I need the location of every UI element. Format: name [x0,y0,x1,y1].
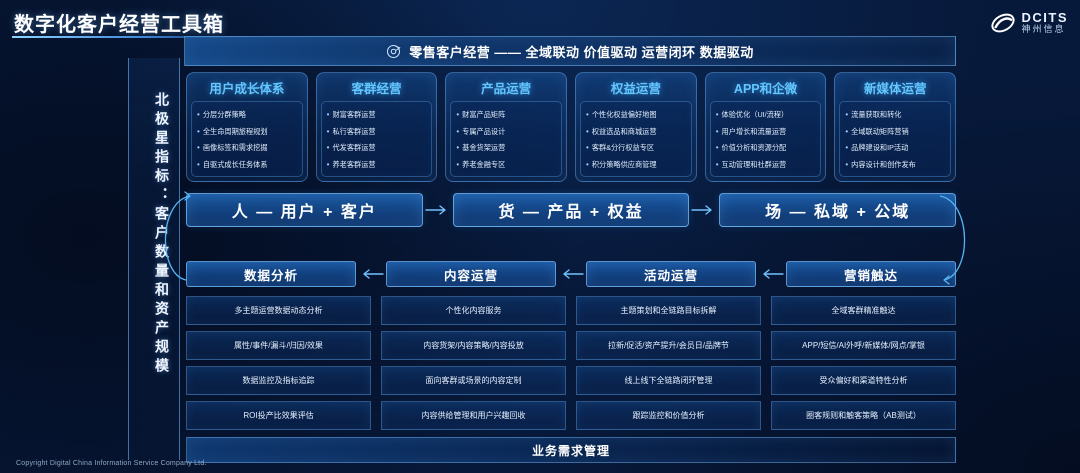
card-bullet: 全生命周期旅程规划 [197,127,299,136]
card-benefit-ops[interactable]: 权益运营 个性化权益偏好地图 权益选品和商城运营 客群&分行权益专区 积分策略供… [575,72,697,182]
bottom-bar-demand-management: 业务需求管理 [186,437,956,463]
grid-cell[interactable]: 内容货架/内容策略/内容投放 [381,331,566,360]
card-user-growth[interactable]: 用户成长体系 分层分群策略 全生命周期旅程规划 画像标签和需求挖掘 自驱式成长任… [186,72,308,182]
grid-cell[interactable]: 内容供给管理和用户兴趣回收 [381,401,566,430]
card-bullet: 体验优化（UI/流程） [716,110,818,119]
grid-cell[interactable]: 主题策划和全链路目标拆解 [576,296,761,325]
logo-text-cn: 神州信息 [1022,25,1069,34]
grid-cell[interactable]: 个性化内容服务 [381,296,566,325]
card-body: 分层分群策略 全生命周期旅程规划 画像标签和需求挖掘 自驱式成长任务体系 [191,101,303,177]
card-body: 财富产品矩阵 专属产品设计 基金货架运营 养老金融专区 [450,101,562,177]
arrow-right-icon [689,204,719,216]
grid-cell[interactable]: APP/短信/AI外呼/新媒体/网点/掌银 [771,331,956,360]
card-bullet: 私行客群运营 [327,127,429,136]
card-bullet: 流量获取和转化 [845,110,947,119]
card-bullet: 分层分群策略 [197,110,299,119]
grid-column-data-analysis: 多主题运营数据动态分析 属性/事件/漏斗/归因/效果 数据监控及指标追踪 ROI… [186,296,371,430]
card-title: 新媒体运营 [864,78,927,97]
card-title: 权益运营 [611,78,661,97]
card-title: 用户成长体系 [209,78,284,97]
op-header-marketing-reach[interactable]: 营销触达 [786,261,956,287]
card-bullet: 自驱式成长任务体系 [197,160,299,169]
grid-cell[interactable]: 受众偏好和渠道特性分析 [771,366,956,395]
card-bullet: 内容设计和创作发布 [845,160,947,169]
op-header-campaign-ops[interactable]: 活动运营 [586,261,756,287]
grid-cell[interactable]: 拉新/促活/资产提升/会员日/品牌节 [576,331,761,360]
grid-cell[interactable]: 全域客群精准触达 [771,296,956,325]
card-body: 个性化权益偏好地图 权益选品和商城运营 客群&分行权益专区 积分策略供应商管理 [580,101,692,177]
card-bullet: 财富产品矩阵 [456,110,558,119]
card-title: 产品运营 [481,78,531,97]
swirl-logo-icon [990,10,1016,36]
op-header-data-analysis[interactable]: 数据分析 [186,261,356,287]
copyright-footer: Copyright Digital China Information Serv… [16,460,207,467]
card-bullet: 全域联动矩阵营销 [845,127,947,136]
card-bullet: 个性化权益偏好地图 [586,110,688,119]
card-new-media[interactable]: 新媒体运营 流量获取和转化 全域联动矩阵营销 品牌建设和IP活动 内容设计和创作… [834,72,956,182]
pill-people[interactable]: 人 — 用户 + 客户 [186,193,423,227]
grid-cell[interactable]: 面向客群或场景的内容定制 [381,366,566,395]
card-bullet: 品牌建设和IP活动 [845,143,947,152]
card-bullet: 画像标签和需求挖掘 [197,143,299,152]
capability-cards: 用户成长体系 分层分群策略 全生命周期旅程规划 画像标签和需求挖掘 自驱式成长任… [186,72,956,182]
north-star-label: 北极星指标：客户数量和资产规模 [136,92,172,377]
card-body: 体验优化（UI/流程） 用户增长和流量运营 价值分析和资源分配 互动管理和社群运… [710,101,822,177]
card-title: APP和企微 [734,78,797,97]
card-customer-group[interactable]: 客群经营 财富客群运营 私行客群运营 代发客群运营 养老客群运营 [316,72,438,182]
card-bullet: 财富客群运营 [327,110,429,119]
card-body: 财富客群运营 私行客群运营 代发客群运营 养老客群运营 [321,101,433,177]
grid-cell[interactable]: 多主题运营数据动态分析 [186,296,371,325]
card-bullet: 互动管理和社群运营 [716,160,818,169]
card-bullet: 价值分析和资源分配 [716,143,818,152]
card-bullet: 养老金融专区 [456,160,558,169]
arrow-left-icon [756,268,786,280]
top-banner: 零售客户经营 —— 全域联动 价值驱动 运营闭环 数据驱动 [184,36,956,66]
card-app-wecom[interactable]: APP和企微 体验优化（UI/流程） 用户增长和流量运营 价值分析和资源分配 互… [705,72,827,182]
card-bullet: 养老客群运营 [327,160,429,169]
grid-cell[interactable]: 线上线下全链路闭环管理 [576,366,761,395]
card-bullet: 权益选品和商城运营 [586,127,688,136]
grid-cell[interactable]: 属性/事件/漏斗/归因/效果 [186,331,371,360]
card-bullet: 代发客群运营 [327,143,429,152]
pill-place[interactable]: 场 — 私域 + 公域 [719,193,956,227]
company-logo: DCITS 神州信息 [990,10,1069,36]
grid-column-content-ops: 个性化内容服务 内容货架/内容策略/内容投放 面向客群或场景的内容定制 内容供给… [381,296,566,430]
grid-column-marketing-reach: 全域客群精准触达 APP/短信/AI外呼/新媒体/网点/掌银 受众偏好和渠道特性… [771,296,956,430]
grid-cell[interactable]: 数据监控及指标追踪 [186,366,371,395]
grid-cell[interactable]: ROI投产比效果评估 [186,401,371,430]
arrow-left-icon [556,268,586,280]
card-body: 流量获取和转化 全域联动矩阵营销 品牌建设和IP活动 内容设计和创作发布 [839,101,951,177]
banner-text: 零售客户经营 —— 全域联动 价值驱动 运营闭环 数据驱动 [409,42,754,61]
op-header-content-ops[interactable]: 内容运营 [386,261,556,287]
pill-goods[interactable]: 货 — 产品 + 权益 [453,193,690,227]
page-title: 数字化客户经营工具箱 [14,8,224,37]
operation-headers-row: 数据分析 内容运营 活动运营 营销触达 [186,261,956,287]
card-bullet: 基金货架运营 [456,143,558,152]
grid-cell[interactable]: 圈客规则和触客策略（AB测试） [771,401,956,430]
arrow-right-icon [423,204,453,216]
card-product-ops[interactable]: 产品运营 财富产品矩阵 专属产品设计 基金货架运营 养老金融专区 [445,72,567,182]
card-bullet: 客群&分行权益专区 [586,143,688,152]
card-bullet: 积分策略供应商管理 [586,160,688,169]
operation-items-grid: 多主题运营数据动态分析 属性/事件/漏斗/归因/效果 数据监控及指标追踪 ROI… [186,296,956,430]
grid-column-campaign-ops: 主题策划和全链路目标拆解 拉新/促活/资产提升/会员日/品牌节 线上线下全链路闭… [576,296,761,430]
grid-cell[interactable]: 跟踪监控和价值分析 [576,401,761,430]
target-cycle-icon [386,44,401,59]
card-title: 客群经营 [352,78,402,97]
card-bullet: 用户增长和流量运营 [716,127,818,136]
ren-huo-chang-row: 人 — 用户 + 客户 货 — 产品 + 权益 场 — 私域 + 公域 [186,193,956,227]
card-bullet: 专属产品设计 [456,127,558,136]
arrow-left-icon [356,268,386,280]
